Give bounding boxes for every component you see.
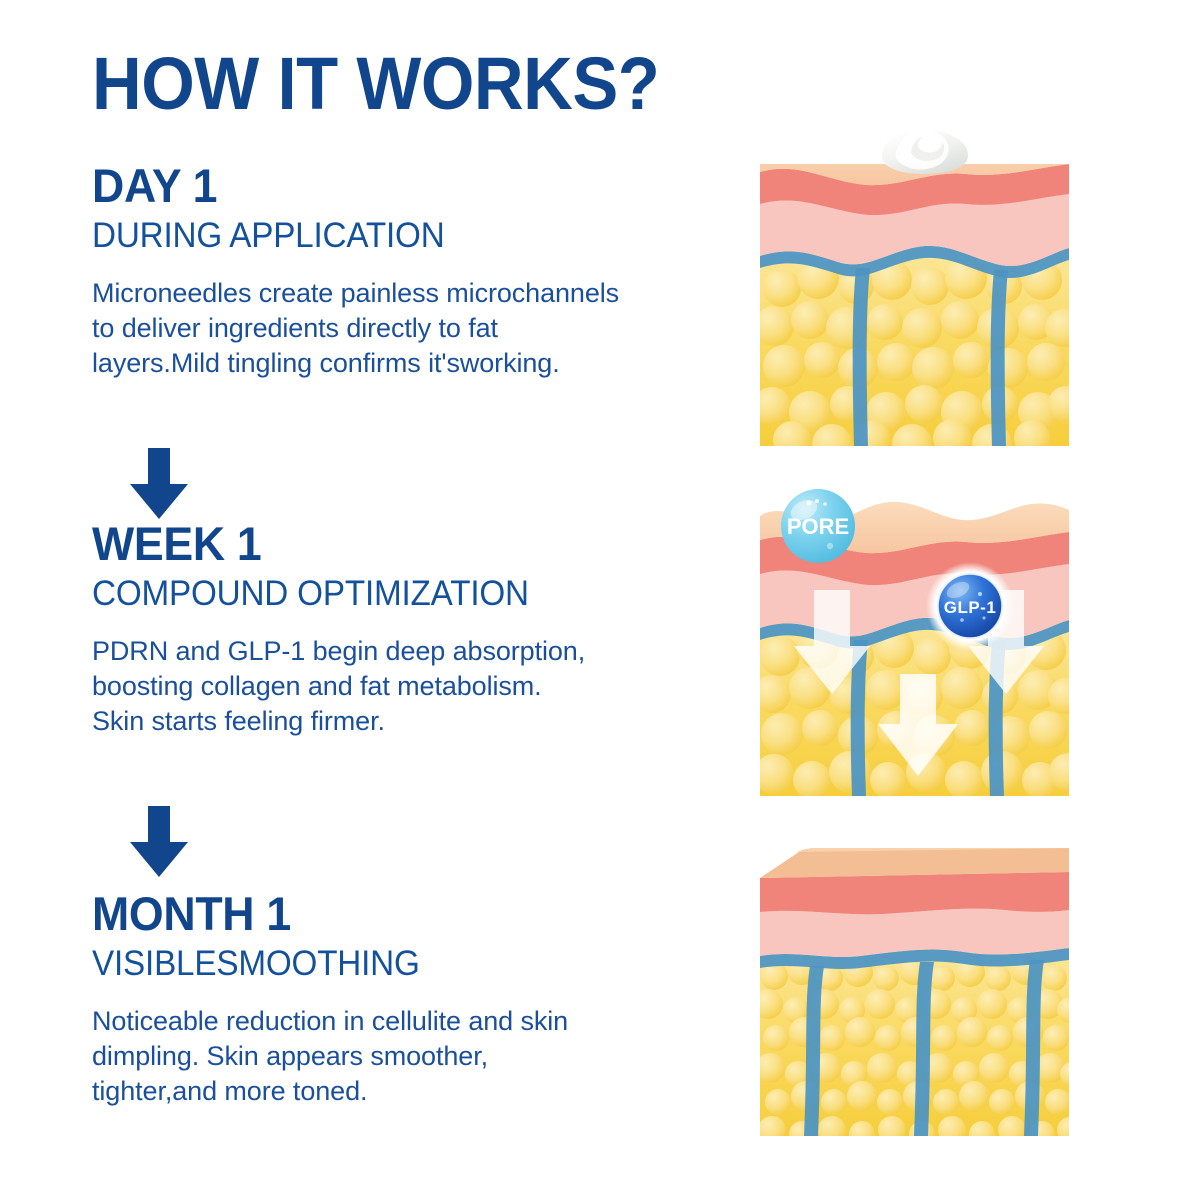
skin-cross-section-absorption-icon: PORE GLP-1 xyxy=(752,478,1077,800)
step-body-week-1: PDRN and GLP-1 begin deep absorption, bo… xyxy=(92,634,592,739)
pore-bubble: PORE xyxy=(781,489,855,563)
cream-dollop xyxy=(878,128,970,174)
step-body-month-1: Noticeable reduction in cellulite and sk… xyxy=(92,1004,612,1109)
step-title-week-1: WEEK 1 xyxy=(92,518,662,570)
glp1-bubble-label: GLP-1 xyxy=(944,598,997,617)
pore-bubble-label: PORE xyxy=(787,514,849,539)
skin-cross-section-cream-icon xyxy=(752,128,1077,448)
steps-column: DAY 1 DURING APPLICATION Microneedles cr… xyxy=(0,0,720,1200)
glp1-bubble: GLP-1 xyxy=(926,562,1014,650)
step-subtitle-month-1: VISIBLESMOOTHING xyxy=(92,942,662,986)
step-week-1: WEEK 1 COMPOUND OPTIMIZATION PDRN and GL… xyxy=(92,518,692,739)
infographic-page: HOW IT WORKS? DAY 1 DURING APPLICATION M… xyxy=(0,0,1200,1200)
step-month-1: MONTH 1 VISIBLESMOOTHING Noticeable redu… xyxy=(92,888,692,1109)
step-title-day-1: DAY 1 xyxy=(92,160,662,212)
step-day-1: DAY 1 DURING APPLICATION Microneedles cr… xyxy=(92,160,692,381)
arrow-down-icon xyxy=(128,448,190,520)
step-subtitle-week-1: COMPOUND OPTIMIZATION xyxy=(92,572,662,616)
step-title-month-1: MONTH 1 xyxy=(92,888,662,940)
step-subtitle-day-1: DURING APPLICATION xyxy=(92,214,662,258)
skin-cross-section-smoothed-icon xyxy=(752,840,1077,1140)
arrow-down-icon xyxy=(128,806,190,878)
step-body-day-1: Microneedles create painless microchanne… xyxy=(92,276,632,381)
